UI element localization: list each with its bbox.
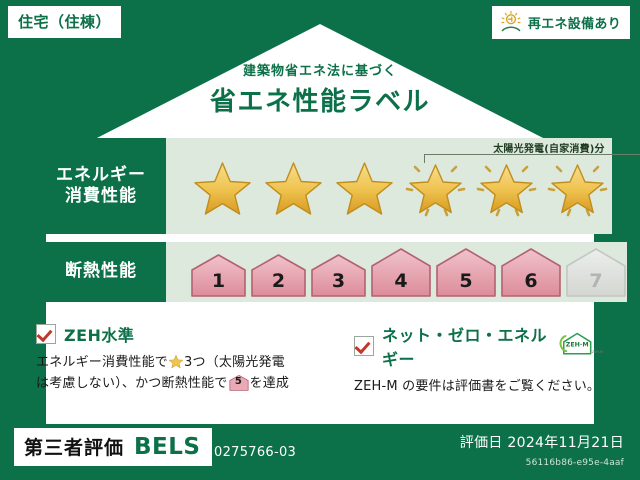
inline-star-icon <box>168 353 184 369</box>
insulation-grade-6: 6 <box>500 246 562 298</box>
zeh-m-logo-icon: ZEH·M ZEH-M <box>557 331 604 361</box>
zeh-checkbox[interactable] <box>36 324 56 344</box>
net-zero-check-section: ネット・ゼロ・エネルギー ZEH·M ZEH-M ZEH-M の要件は評価書をご… <box>336 322 604 402</box>
bels-evaluation-badge: 第三者評価 BELS <box>14 428 212 466</box>
zeh-check-header: ZEH水準 <box>36 322 336 346</box>
svg-text:ZEH-M: ZEH-M <box>592 350 603 354</box>
star-5-solar <box>472 153 541 219</box>
energy-performance-row: エネルギー 消費性能 太陽光発電(自家消費)分 <box>36 138 604 234</box>
zeh-desc-part2: 3つ（太陽光発電 <box>184 355 285 370</box>
star-6-solar <box>543 153 612 219</box>
renewable-badge-label: 再エネ設備あり <box>528 13 621 32</box>
star-2 <box>259 153 328 219</box>
insulation-grade-3: 3 <box>310 252 367 298</box>
energy-key-line1: エネルギー <box>56 165 146 186</box>
grade-value: 3 <box>310 270 367 292</box>
star-rating <box>188 153 612 219</box>
star-4-solar <box>401 153 470 219</box>
sun-renewable-icon <box>499 10 523 34</box>
energy-performance-key: エネルギー 消費性能 <box>36 138 166 234</box>
grade-value: 5 <box>435 270 497 292</box>
energy-performance-value: 太陽光発電(自家消費)分 <box>166 138 612 234</box>
bels-jp-label: 第三者評価 <box>24 433 124 460</box>
zeh-check-description: エネルギー消費性能で 3つ（太陽光発電は考慮しない）、かつ断熱性能で 5を達成 <box>36 353 336 395</box>
insulation-grade-7: 7 <box>565 246 627 298</box>
insulation-grade-4: 4 <box>370 246 432 298</box>
star-3 <box>330 153 399 219</box>
evaluation-date: 評価日 2024年11月21日 <box>460 432 624 452</box>
grade-value: 2 <box>250 270 307 292</box>
net-zero-check-header: ネット・ゼロ・エネルギー ZEH·M ZEH-M <box>354 322 604 370</box>
insulation-performance-value: 1 2 3 4 5 <box>166 242 627 302</box>
inline-grade-badge: 5 <box>228 374 250 391</box>
zeh-check-title: ZEH水準 <box>64 322 134 346</box>
insulation-performance-key: 断熱性能 <box>36 242 166 302</box>
zeh-desc-part4: を達成 <box>250 376 290 391</box>
net-zero-checkbox[interactable] <box>354 336 374 356</box>
inline-grade-value: 5 <box>228 374 250 390</box>
label-subtitle: 建築物省エネ法に基づく <box>0 60 640 79</box>
page-title: 省エネ性能ラベル <box>0 81 640 118</box>
insulation-grade-scale: 1 2 3 4 5 <box>190 246 627 298</box>
renewable-equipment-badge: 再エネ設備あり <box>492 6 630 39</box>
net-zero-check-title: ネット・ゼロ・エネルギー <box>382 322 549 370</box>
zeh-desc-part1: エネルギー消費性能で <box>36 355 168 370</box>
insulation-grade-1: 1 <box>190 252 247 298</box>
insulation-grade-2: 2 <box>250 252 307 298</box>
grade-value: 1 <box>190 270 247 292</box>
insulation-key-line1: 断熱性能 <box>65 261 137 282</box>
grade-value: 4 <box>370 270 432 292</box>
zeh-desc-part3: は考慮しない）、かつ断熱性能で <box>36 376 228 391</box>
grade-value: 6 <box>500 270 562 292</box>
insulation-grade-5: 5 <box>435 246 497 298</box>
star-1 <box>188 153 257 219</box>
zeh-check-section: ZEH水準 エネルギー消費性能で 3つ（太陽光発電は考慮しない）、かつ断熱性能で… <box>36 322 336 402</box>
energy-key-line2: 消費性能 <box>65 186 137 207</box>
grade-value: 7 <box>565 270 627 292</box>
bels-en-label: BELS <box>134 434 200 460</box>
net-zero-check-description: ZEH-M の要件は評価書をご覧ください。 <box>354 377 604 398</box>
dwelling-type-tag: 住宅（住棟） <box>8 6 121 38</box>
certification-checks: ZEH水準 エネルギー消費性能で 3つ（太陽光発電は考慮しない）、かつ断熱性能で… <box>36 322 604 402</box>
bels-number: 0275766-03 <box>214 445 296 460</box>
energy-performance-label: 住宅（住棟） 再エネ設備あり 建築物省エネ法に基づく 省エネ性能 <box>0 0 640 480</box>
label-hash-id: 56116b86-e95e-4aaf <box>526 458 624 468</box>
insulation-performance-row: 断熱性能 1 2 <box>36 242 604 302</box>
svg-text:ZEH·M: ZEH·M <box>566 342 589 349</box>
